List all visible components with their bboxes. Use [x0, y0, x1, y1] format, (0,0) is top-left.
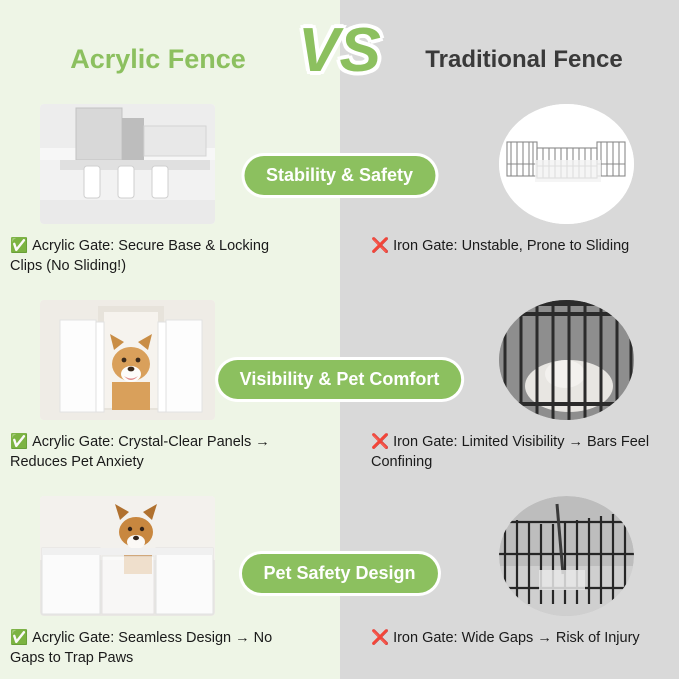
comparison-row-1: Stability & Safety: [0, 96, 679, 292]
row3-right-caption: ❌Iron Gate: Wide Gaps → Risk of Injury: [371, 628, 671, 648]
row2-left-caption: ✅Acrylic Gate: Crystal-Clear Panels → Re…: [10, 432, 280, 472]
badge-stability-safety: Stability & Safety: [244, 156, 435, 195]
row3-right-caption-text: Iron Gate: Wide Gaps → Risk of Injury: [393, 630, 640, 646]
badge-visibility-pet-comfort: Visibility & Pet Comfort: [218, 360, 462, 399]
header: Acrylic Fence VS Traditional Fence: [0, 0, 679, 100]
check-icon: ✅: [10, 630, 28, 646]
right-column-title: Traditional Fence: [379, 46, 669, 74]
row2-right-caption-text: Iron Gate: Limited Visibility → Bars Fee…: [371, 434, 649, 470]
row1-left-caption-text: Acrylic Gate: Secure Base & Locking Clip…: [10, 238, 269, 274]
comparison-row-3: Pet Safety Design ✅Acrylic Gate: Seamles…: [0, 488, 679, 679]
cross-icon: ❌: [371, 434, 389, 450]
comparison-row-2: Visibility & Pet Comfort ✅Acrylic Gate: …: [0, 292, 679, 488]
row1-right-caption-text: Iron Gate: Unstable, Prone to Sliding: [393, 238, 629, 254]
cross-icon: ❌: [371, 630, 389, 646]
check-icon: ✅: [10, 434, 28, 450]
vs-label: VS: [298, 20, 381, 82]
acrylic-fence-dog-photo: [40, 496, 215, 616]
comparison-infographic: Acrylic Fence VS Traditional Fence Stabi…: [0, 0, 679, 679]
acrylic-gate-base-photo: [40, 104, 215, 224]
iron-crate-dog-photo: [499, 300, 634, 420]
row3-left-caption-text: Acrylic Gate: Seamless Design → No Gaps …: [10, 630, 272, 666]
iron-playpen-photo: [499, 104, 634, 224]
check-icon: ✅: [10, 238, 28, 254]
left-column-title: Acrylic Fence: [18, 44, 298, 75]
row3-left-caption: ✅Acrylic Gate: Seamless Design → No Gaps…: [10, 628, 280, 668]
acrylic-gate-dog-photo: [40, 300, 215, 420]
badge-pet-safety-design: Pet Safety Design: [241, 554, 437, 593]
metal-playpen-photo: [499, 496, 634, 616]
row1-right-caption: ❌Iron Gate: Unstable, Prone to Sliding: [371, 236, 671, 256]
cross-icon: ❌: [371, 238, 389, 254]
row2-left-caption-text: Acrylic Gate: Crystal-Clear Panels → Red…: [10, 434, 270, 470]
row2-right-caption: ❌Iron Gate: Limited Visibility → Bars Fe…: [371, 432, 671, 472]
row1-left-caption: ✅Acrylic Gate: Secure Base & Locking Cli…: [10, 236, 280, 276]
